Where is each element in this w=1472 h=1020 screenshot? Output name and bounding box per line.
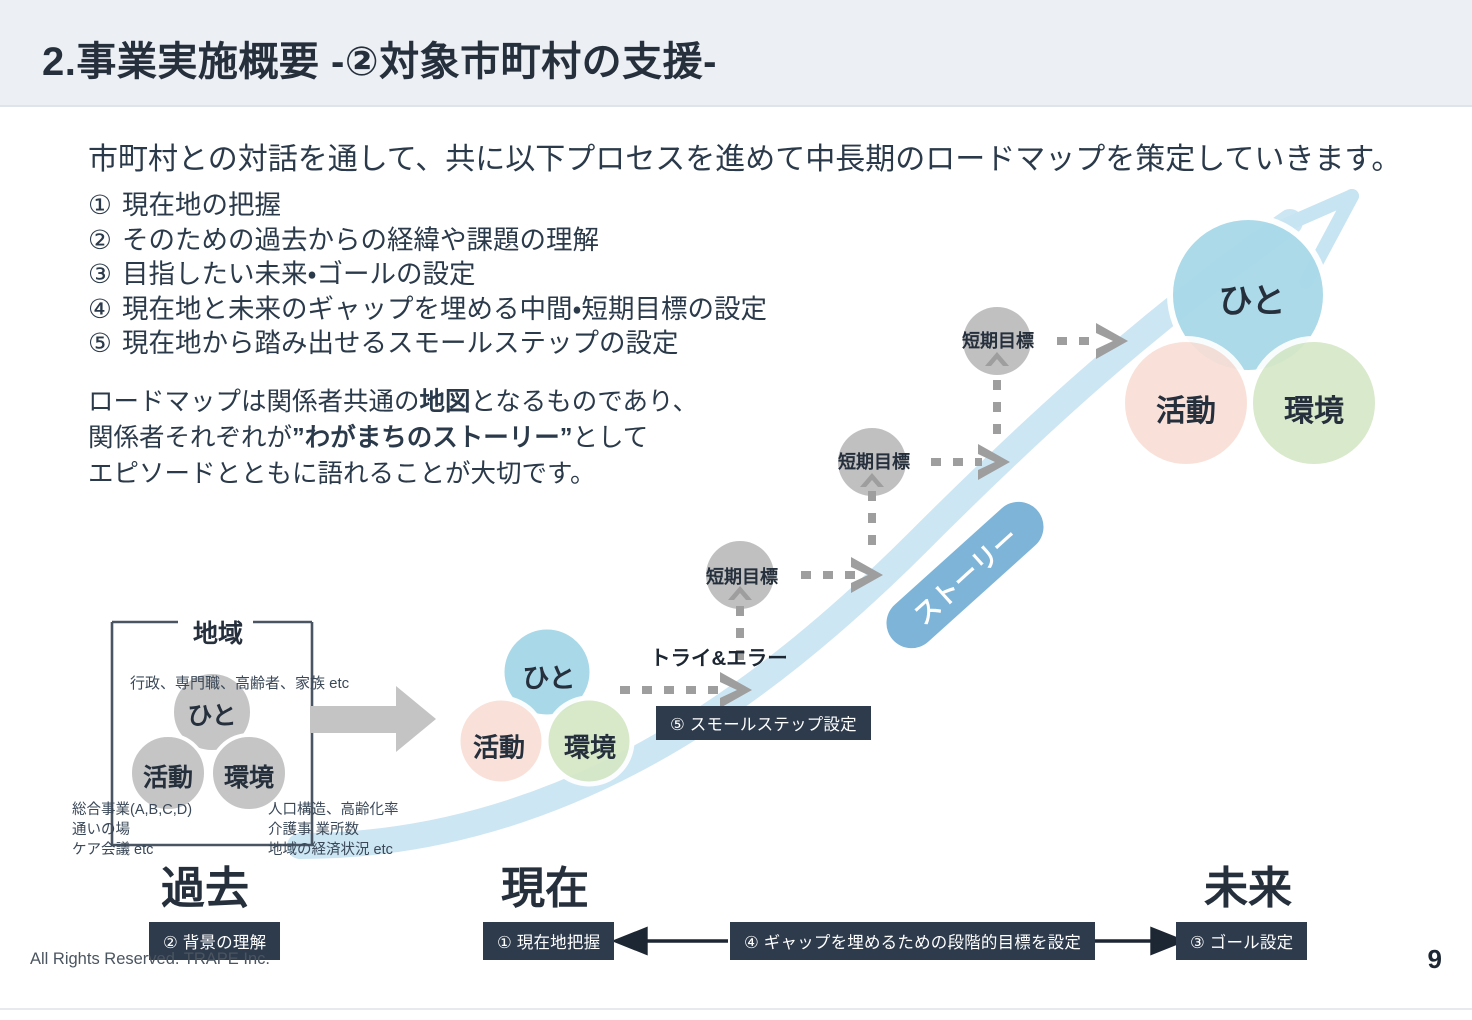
step-label: そのための過去からの経緯や課題の理解 bbox=[122, 225, 599, 255]
step-marker: ② bbox=[88, 223, 122, 258]
era-label-present: 現在 bbox=[501, 852, 589, 916]
badge-goal-setting[interactable]: ③ ゴール設定 bbox=[1176, 922, 1307, 960]
page-number: 9 bbox=[1428, 944, 1442, 975]
era-label-future: 未来 bbox=[1204, 852, 1292, 916]
process-step-list: ①現在地の把握 ②そのための過去からの経緯や課題の理解 ③目指したい未来・ゴール… bbox=[88, 188, 767, 361]
present-bubble-label-kankyo: 環境 bbox=[564, 728, 616, 765]
badge-gap-stepwise-goals[interactable]: ④ ギャップを埋めるための段階的目標を設定 bbox=[730, 922, 1095, 960]
badge-small-step-setting[interactable]: ⑤ スモールステップ設定 bbox=[656, 706, 871, 740]
paragraph-text: ロードマップは関係者共通の bbox=[88, 388, 420, 416]
step-marker: ④ bbox=[88, 292, 122, 327]
paragraph-text: エピソードとともに語れることが大切です。 bbox=[88, 460, 595, 488]
step-marker: ① bbox=[88, 188, 122, 223]
copyright-notice: All Rights Reserved. TRAPE Inc. bbox=[30, 950, 270, 969]
process-step-item: ③目指したい未来・ゴールの設定 bbox=[88, 257, 767, 292]
region-box-title: 地域 bbox=[183, 614, 253, 650]
milestone-label-3: 短期目標 bbox=[962, 327, 1034, 353]
step-label: 現在地と未来のギャップを埋める中間・短期目標の設定 bbox=[122, 294, 767, 324]
badge-current-state[interactable]: ① 現在地把握 bbox=[483, 922, 614, 960]
present-bubble-label-katsudo: 活動 bbox=[473, 728, 525, 765]
lead-sentence: 市町村との対話を通して、共に以下プロセスを進めて中長期のロードマップを策定してい… bbox=[88, 134, 1401, 178]
region-note-environment: 人口構造、高齢化率 介護事 業所数 地域の経済状況 etc bbox=[268, 800, 399, 860]
paragraph-line-1: ロードマップは関係者共通の地図となるものであり、 bbox=[88, 384, 698, 420]
era-label-past: 過去 bbox=[161, 852, 249, 916]
paragraph-emphasis-map: 地図 bbox=[420, 388, 471, 416]
step-label: 現在地の把握 bbox=[122, 190, 281, 220]
process-step-item: ⑤現在地から踏み出せるスモールステップの設定 bbox=[88, 326, 767, 361]
process-step-item: ④現在地と未来のギャップを埋める中間・短期目標の設定 bbox=[88, 292, 767, 327]
future-bubble-label-hito: ひと bbox=[1219, 274, 1286, 323]
step-label: 目指したい未来・ゴールの設定 bbox=[122, 259, 476, 289]
region-note-activity: 総合事業(A,B,C,D) 通いの場 ケア会議 etc bbox=[72, 800, 192, 860]
roadmap-paragraph: ロードマップは関係者共通の地図となるものであり、 関係者それぞれが”わがまちのス… bbox=[88, 384, 698, 492]
future-bubble-label-katsudo: 活動 bbox=[1156, 386, 1216, 430]
step-marker: ③ bbox=[88, 257, 122, 292]
future-bubble-label-kankyo: 環境 bbox=[1284, 386, 1344, 430]
process-step-item: ②そのための過去からの経緯や課題の理解 bbox=[88, 223, 767, 258]
milestone-label-1: 短期目標 bbox=[706, 563, 778, 589]
region-note-line: 地域の経済状況 etc bbox=[268, 840, 399, 860]
region-bubble-label-katsudo: 活動 bbox=[143, 758, 193, 794]
milestone-label-2: 短期目標 bbox=[838, 448, 910, 474]
paragraph-line-3: エピソードとともに語れることが大切です。 bbox=[88, 456, 698, 492]
try-and-error-label: トライ&エラー bbox=[650, 641, 788, 671]
region-note-line: 総合事業(A,B,C,D) bbox=[72, 800, 192, 820]
region-note-line: 人口構造、高齢化率 bbox=[268, 800, 399, 820]
transition-block-arrow bbox=[310, 686, 436, 752]
present-bubble-label-hito: ひと bbox=[522, 657, 575, 696]
step-marker: ⑤ bbox=[88, 326, 122, 361]
paragraph-text: となるものであり、 bbox=[471, 388, 698, 416]
region-note-line: 介護事 業所数 bbox=[268, 820, 399, 840]
slide-canvas: 2.事業実施概要 -②対象市町村の支援- bbox=[0, 0, 1472, 1020]
paragraph-text: として bbox=[573, 424, 649, 452]
paragraph-line-2: 関係者それぞれが”わがまちのストーリー”として bbox=[88, 420, 698, 456]
region-note-people: 行政、専門職、高齢者、家族 etc bbox=[130, 674, 349, 694]
region-bubble-label-kankyo: 環境 bbox=[224, 758, 274, 794]
step-label: 現在地から踏み出せるスモールステップの設定 bbox=[122, 328, 679, 358]
footer-divider bbox=[0, 1008, 1472, 1010]
paragraph-emphasis-story: ”わがまちのストーリー” bbox=[292, 424, 573, 452]
process-step-item: ①現在地の把握 bbox=[88, 188, 767, 223]
region-note-line: 通いの場 bbox=[72, 820, 192, 840]
paragraph-text: 関係者それぞれが bbox=[88, 424, 292, 452]
region-bubble-label-hito: ひと bbox=[187, 696, 236, 732]
